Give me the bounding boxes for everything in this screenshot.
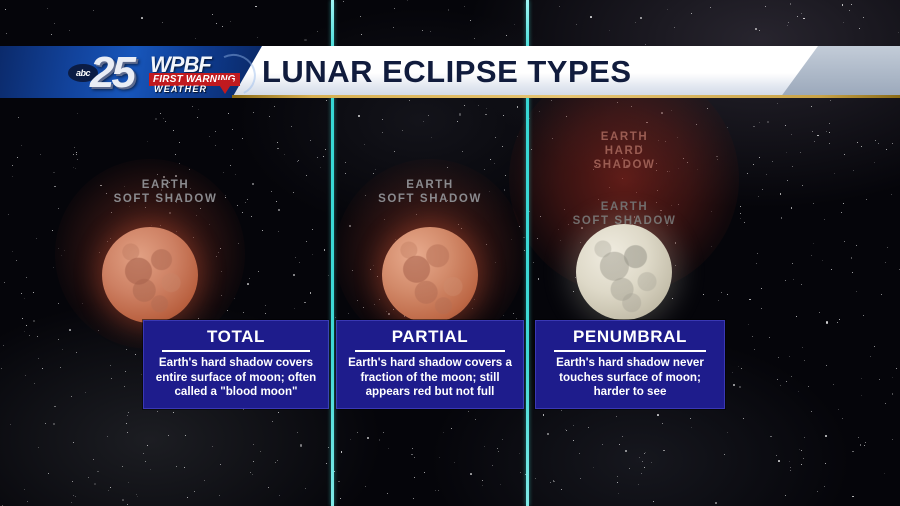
caption-body-penumbral: Earth's hard shadow never touches surfac… xyxy=(544,356,716,400)
weather-wordmark: WEATHER xyxy=(154,84,207,94)
graphic-canvas: EARTH SOFT SHADOW TOTAL Earth's hard sha… xyxy=(0,0,900,506)
caption-rule xyxy=(355,350,505,352)
caption-rule xyxy=(554,350,706,352)
shadow-label-line3: SHADOW xyxy=(594,159,656,171)
channel-number: 25 xyxy=(90,48,133,98)
panel-total: EARTH SOFT SHADOW TOTAL Earth's hard sha… xyxy=(0,104,331,506)
moon-total xyxy=(102,227,198,323)
earth-soft-shadow-label-total: EARTH SOFT SHADOW xyxy=(0,178,331,206)
page-title: LUNAR ECLIPSE TYPES xyxy=(262,46,632,98)
shadow-label-line1: EARTH xyxy=(406,179,454,191)
caption-title-penumbral: PENUMBRAL xyxy=(544,327,716,347)
caption-body-partial: Earth's hard shadow covers a fraction of… xyxy=(345,356,515,400)
caption-partial: PARTIAL Earth's hard shadow covers a fra… xyxy=(336,320,524,409)
caption-penumbral: PENUMBRAL Earth's hard shadow never touc… xyxy=(535,320,725,409)
caption-rule xyxy=(162,350,310,352)
caption-body-total: Earth's hard shadow covers entire surfac… xyxy=(152,356,320,400)
panel-penumbral: EARTH HARD SHADOW EARTH SOFT SHADOW PENU… xyxy=(529,104,900,506)
shadow-label-line2: SOFT SHADOW xyxy=(114,193,218,205)
caption-total: TOTAL Earth's hard shadow covers entire … xyxy=(143,320,329,409)
down-arrow-icon xyxy=(216,80,234,94)
moon-penumbral xyxy=(576,224,672,320)
shadow-label-line2: HARD xyxy=(605,145,645,157)
caption-title-total: TOTAL xyxy=(152,327,320,347)
station-logo: abc 25 WPBF FIRST WARNING WEATHER xyxy=(60,50,240,96)
caption-title-partial: PARTIAL xyxy=(345,327,515,347)
shadow-label-line1: EARTH xyxy=(601,131,649,143)
earth-hard-shadow-label-penumbral: EARTH HARD SHADOW xyxy=(439,130,810,172)
shadow-label-line1: EARTH xyxy=(601,201,649,213)
shadow-label-line1: EARTH xyxy=(142,179,190,191)
moon-partial xyxy=(382,227,478,323)
